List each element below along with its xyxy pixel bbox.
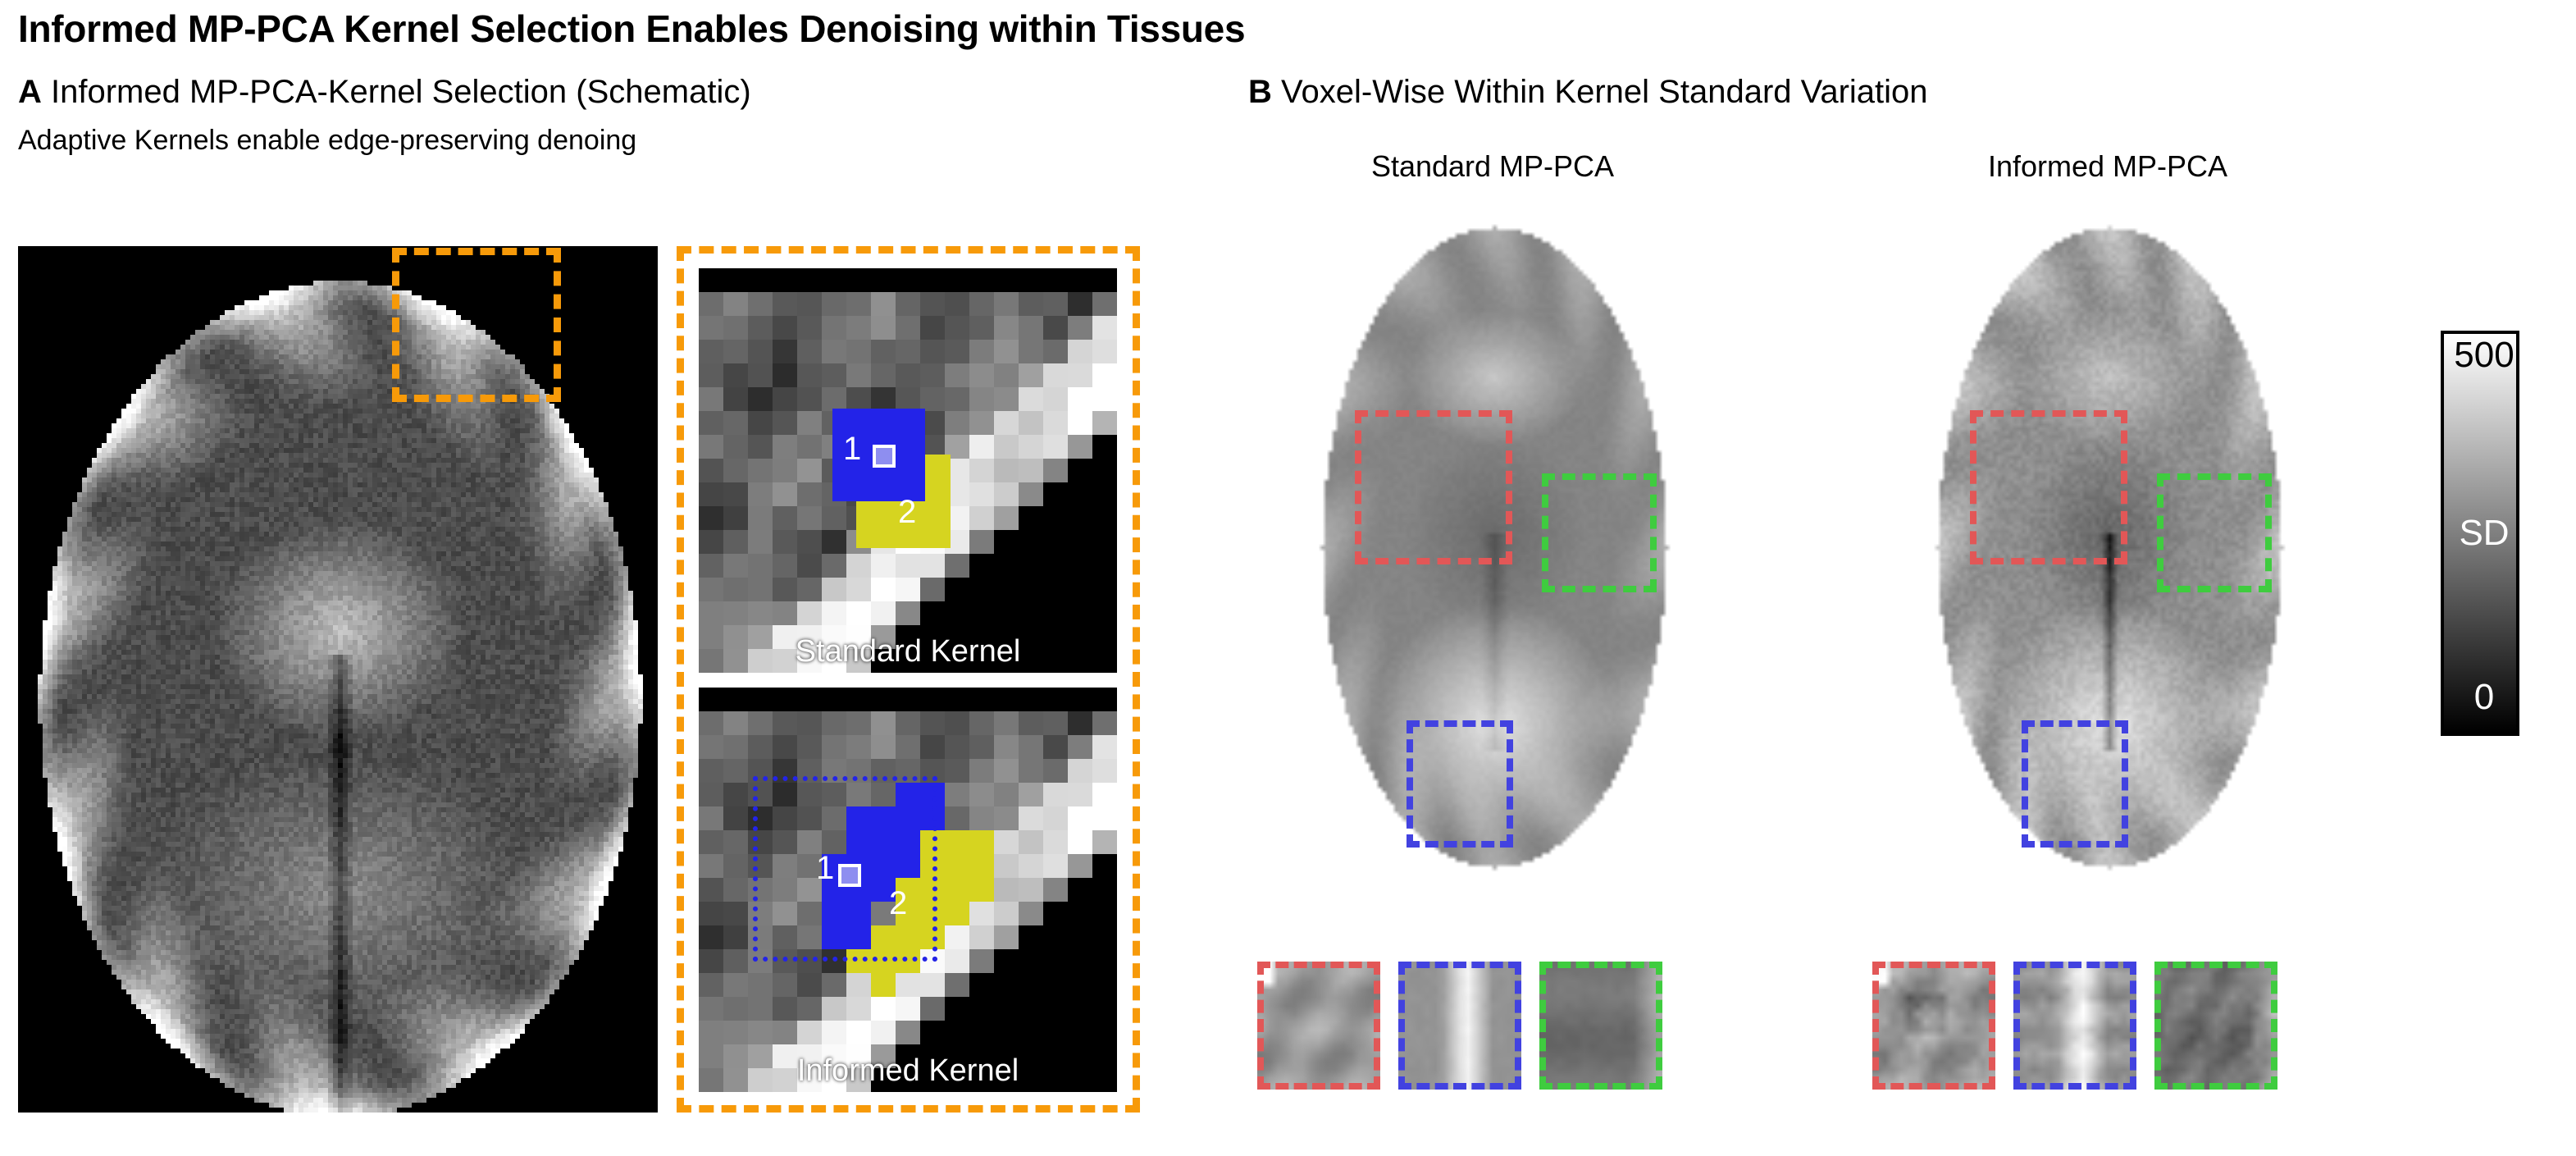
map-label-standard: Standard MP-PCA (1312, 149, 1673, 184)
panel-b-heading: B Voxel-Wise Within Kernel Standard Vari… (1248, 74, 1928, 111)
panel-b-letter: B (1248, 74, 1272, 110)
colorbar-min-label: 0 (2449, 677, 2519, 718)
overview-brain-image (18, 246, 658, 1113)
standard-kernel-image (699, 268, 1117, 673)
figure-title: Informed MP-PCA Kernel Selection Enables… (18, 7, 1245, 51)
panel-a-letter: A (18, 74, 42, 110)
colorbar-unit-label: SD (2449, 513, 2519, 554)
informed-inset-green (2154, 962, 2277, 1090)
standard-sd-map (1288, 205, 1698, 886)
standard-inset-blue (1398, 962, 1521, 1090)
informed-inset-blue (2013, 962, 2136, 1090)
panel-a-heading-text: Informed MP-PCA-Kernel Selection (Schema… (51, 74, 751, 110)
panel-a-subtitle: Adaptive Kernels enable edge-preserving … (18, 125, 636, 157)
informed-kernel-image (699, 688, 1117, 1092)
informed-sd-map (1903, 205, 2313, 886)
panel-b-heading-text: Voxel-Wise Within Kernel Standard Variat… (1281, 74, 1928, 110)
standard-inset-green (1539, 962, 1662, 1090)
colorbar-max-label: 500 (2449, 335, 2519, 376)
panel-a-heading: A Informed MP-PCA-Kernel Selection (Sche… (18, 74, 751, 111)
standard-inset-red (1257, 962, 1380, 1090)
informed-inset-red (1872, 962, 1995, 1090)
map-label-informed: Informed MP-PCA (1927, 149, 2288, 184)
